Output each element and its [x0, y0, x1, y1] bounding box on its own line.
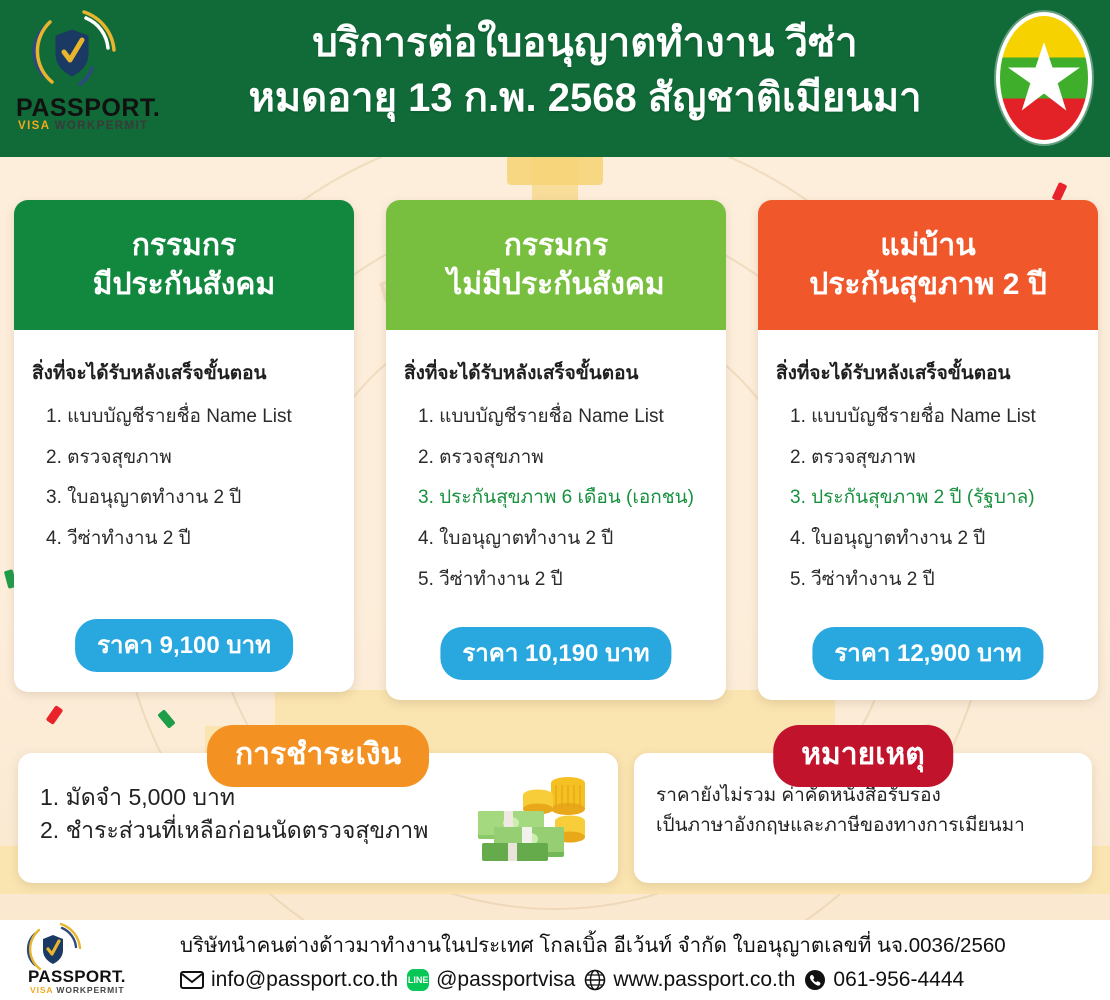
- card-title-line1: กรรมกร: [132, 229, 236, 262]
- list-item: 4. วีซ่าทำงาน 2 ปี: [46, 526, 336, 552]
- card-benefit-list: 1. แบบบัญชีรายชื่อ Name List 2. ตรวจสุขภ…: [776, 404, 1080, 592]
- contact-email[interactable]: info@passport.co.th: [180, 968, 398, 992]
- footer-logo-wordmark: PASSPORT.: [28, 967, 126, 987]
- note-panel: หมายเหตุ ราคายังไม่รวม ค่าคัดหนังสือรับร…: [634, 753, 1092, 883]
- card-benefit-list: 1. แบบบัญชีรายชื่อ Name List 2. ตรวจสุขภ…: [404, 404, 708, 592]
- price-badge[interactable]: ราคา 9,100 บาท: [75, 619, 293, 672]
- contact-website[interactable]: www.passport.co.th: [584, 968, 795, 992]
- phone-text: 061-956-4444: [833, 968, 964, 992]
- card-subtitle: สิ่งที่จะได้รับหลังเสร็จขั้นตอน: [776, 358, 1080, 388]
- list-item: 4. ใบอนุญาตทำงาน 2 ปี: [790, 526, 1080, 552]
- footer-content: บริษัทนำคนต่างด้าวมาทำงานในประเทศ โกลเบิ…: [180, 929, 1110, 992]
- confetti-green: [157, 709, 175, 729]
- list-item: 2. ตรวจสุขภาพ: [418, 445, 708, 471]
- card-body: สิ่งที่จะได้รับหลังเสร็จขั้นตอน 1. แบบบั…: [386, 330, 726, 592]
- card-title-line1: กรรมกร: [504, 229, 608, 262]
- page-title-line1: บริการต่อใบอนุญาตทำงาน วีซ่า: [312, 21, 857, 65]
- pricing-card-worker-with-insurance[interactable]: กรรมกร มีประกันสังคม สิ่งที่จะได้รับหลัง…: [14, 200, 354, 692]
- money-stack-icon: [470, 769, 600, 869]
- price-badge[interactable]: ราคา 12,900 บาท: [812, 627, 1043, 680]
- logo-wordmark: PASSPORT.: [16, 94, 160, 123]
- payment-panel-tab: การชำระเงิน: [207, 725, 429, 787]
- logo-visa-text: VISA: [18, 120, 50, 132]
- card-body: สิ่งที่จะได้รับหลังเสร็จขั้นตอน 1. แบบบั…: [758, 330, 1098, 592]
- card-title-line1: แม่บ้าน: [880, 229, 976, 262]
- line-app-icon: LINE: [407, 969, 429, 991]
- confetti-red: [46, 705, 64, 725]
- payment-panel: การชำระเงิน 1. มัดจำ 5,000 บาท 2. ชำระส่…: [18, 753, 618, 883]
- list-item-highlight: 3. ประกันสุขภาพ 2 ปี (รัฐบาล): [790, 485, 1080, 511]
- card-header: กรรมกร ไม่มีประกันสังคม: [386, 200, 726, 330]
- list-item: 4. ใบอนุญาตทำงาน 2 ปี: [418, 526, 708, 552]
- page-footer: PASSPORT. VISA WORKPERMIT บริษัทนำคนต่าง…: [0, 920, 1110, 1000]
- list-item: 1. แบบบัญชีรายชื่อ Name List: [790, 404, 1080, 430]
- footer-logo-workpermit-text: WORKPERMIT: [56, 985, 124, 995]
- contact-row: info@passport.co.th LINE @passportvisa: [180, 968, 1100, 992]
- footer-logo-subtitle: VISA WORKPERMIT: [30, 985, 124, 995]
- card-subtitle: สิ่งที่จะได้รับหลังเสร็จขั้นตอน: [32, 358, 336, 388]
- list-item: 5. วีซ่าทำงาน 2 ปี: [790, 567, 1080, 593]
- footer-brand-logo: PASSPORT. VISA WORKPERMIT: [0, 923, 180, 997]
- logo-workpermit-text: WORKPERMIT: [55, 120, 149, 132]
- envelope-icon: [180, 971, 204, 989]
- note-panel-tab: หมายเหตุ: [773, 725, 953, 787]
- shield-check-logo-icon: [26, 10, 118, 96]
- contact-line[interactable]: LINE @passportvisa: [407, 968, 575, 992]
- card-title-line2: ไม่มีประกันสังคม: [447, 268, 664, 301]
- card-subtitle: สิ่งที่จะได้รับหลังเสร็จขั้นตอน: [404, 358, 708, 388]
- price-badge[interactable]: ราคา 10,190 บาท: [440, 627, 671, 680]
- infographic-page: PASSPORT. VISA WORKPERMIT PASSPORT. โทร.…: [0, 0, 1110, 1000]
- list-item: 5. วีซ่าทำงาน 2 ปี: [418, 567, 708, 593]
- list-item: 2. ตรวจสุขภาพ: [46, 445, 336, 471]
- list-item-highlight: 3. ประกันสุขภาพ 6 เดือน (เอกชน): [418, 485, 708, 511]
- website-text: www.passport.co.th: [613, 968, 795, 992]
- footer-logo-visa-text: VISA: [30, 985, 53, 995]
- globe-icon: [584, 969, 606, 991]
- card-benefit-list: 1. แบบบัญชีรายชื่อ Name List 2. ตรวจสุขภ…: [32, 404, 336, 552]
- page-title-line2: หมดอายุ 13 ก.พ. 2568 สัญชาติเมียนมา: [190, 71, 980, 126]
- card-title-line2: ประกันสุขภาพ 2 ปี: [809, 268, 1047, 301]
- pricing-card-worker-without-insurance[interactable]: กรรมกร ไม่มีประกันสังคม สิ่งที่จะได้รับห…: [386, 200, 726, 700]
- flag-star-icon: [1008, 42, 1080, 114]
- list-item: 2. ตรวจสุขภาพ: [790, 445, 1080, 471]
- card-title-line2: มีประกันสังคม: [93, 268, 276, 301]
- list-item: 3. ใบอนุญาตทำงาน 2 ปี: [46, 485, 336, 511]
- line-id-text: @passportvisa: [436, 968, 575, 992]
- line-badge-text: LINE: [408, 975, 429, 985]
- flag-stripes: [1000, 16, 1088, 140]
- page-title: บริการต่อใบอนุญาตทำงาน วีซ่า หมดอายุ 13 …: [190, 16, 980, 126]
- card-header: กรรมกร มีประกันสังคม: [14, 200, 354, 330]
- card-body: สิ่งที่จะได้รับหลังเสร็จขั้นตอน 1. แบบบั…: [14, 330, 354, 552]
- phone-icon: [804, 969, 826, 991]
- background-pillar-cap: [507, 155, 603, 185]
- brand-logo: PASSPORT. VISA WORKPERMIT: [8, 8, 183, 143]
- note-line: เป็นภาษาอังกฤษและภาษีของทางการเมียนมา: [656, 811, 1092, 841]
- pricing-card-housekeeper[interactable]: แม่บ้าน ประกันสุขภาพ 2 ปี สิ่งที่จะได้รั…: [758, 200, 1098, 700]
- contact-phone[interactable]: 061-956-4444: [804, 968, 964, 992]
- myanmar-flag-icon: [996, 12, 1092, 144]
- card-header: แม่บ้าน ประกันสุขภาพ 2 ปี: [758, 200, 1098, 330]
- page-header: PASSPORT. VISA WORKPERMIT บริการต่อใบอนุ…: [0, 0, 1110, 157]
- list-item: 1. แบบบัญชีรายชื่อ Name List: [46, 404, 336, 430]
- email-text: info@passport.co.th: [211, 968, 398, 992]
- list-item: 1. แบบบัญชีรายชื่อ Name List: [418, 404, 708, 430]
- company-license-line: บริษัทนำคนต่างด้าวมาทำงานในประเทศ โกลเบิ…: [180, 929, 1100, 962]
- logo-subtitle: VISA WORKPERMIT: [18, 120, 148, 132]
